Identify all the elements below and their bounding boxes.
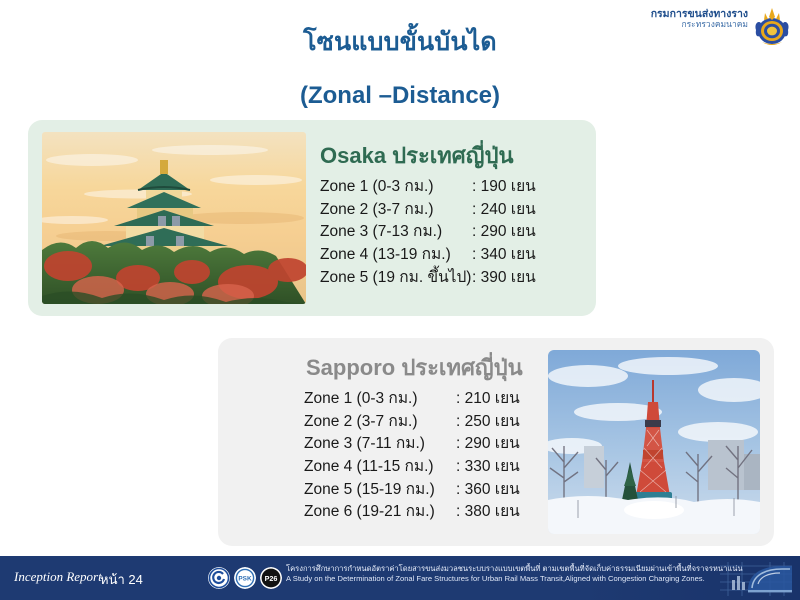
zone-label: Zone 1 (0-3 กม.) bbox=[320, 176, 472, 199]
train-graphic-icon bbox=[718, 560, 794, 598]
zone-fare: : 340 เยน bbox=[472, 244, 536, 267]
psk-logo-icon: PSK bbox=[234, 567, 256, 589]
page-title-thai: โซนแบบขั้นบันได bbox=[0, 22, 800, 62]
footer-project-thai: โครงการศึกษาการกำหนดอัตราค่าโดยสารขนส่งม… bbox=[286, 564, 743, 574]
card-osaka: Osaka ประเทศญี่ปุ่น Zone 1 (0-3 กม.) : 1… bbox=[28, 120, 596, 316]
card-sapporo: Sapporo ประเทศญี่ปุ่น Zone 1 (0-3 กม.) :… bbox=[218, 338, 774, 546]
p26-logo-icon: P26 bbox=[260, 567, 282, 589]
osaka-castle-photo bbox=[42, 132, 306, 304]
zone-label: Zone 5 (19 กม. ขึ้นไป) bbox=[320, 267, 472, 290]
table-row: Zone 5 (15-19 กม.) : 360 เยน bbox=[304, 479, 566, 502]
zone-fare: : 330 เยน bbox=[456, 456, 520, 479]
card-osaka-title: Osaka ประเทศญี่ปุ่น bbox=[320, 138, 514, 173]
table-row: Zone 6 (19-21 กม.) : 380 เยน bbox=[304, 501, 566, 524]
table-row: Zone 2 (3-7 กม.) : 250 เยน bbox=[304, 411, 566, 434]
card-sapporo-title: Sapporo ประเทศญี่ปุ่น bbox=[306, 350, 523, 385]
table-row: Zone 1 (0-3 กม.) : 190 เยน bbox=[320, 176, 582, 199]
card-sapporo-zone-list: Zone 1 (0-3 กม.) : 210 เยน Zone 2 (3-7 ก… bbox=[304, 388, 566, 524]
table-row: Zone 3 (7-13 กม.) : 290 เยน bbox=[320, 221, 582, 244]
zone-label: Zone 3 (7-13 กม.) bbox=[320, 221, 472, 244]
slide-root: กรมการขนส่งทางราง กระทรวงคมนาคม โซนแบบขั… bbox=[0, 0, 800, 600]
card-osaka-zone-list: Zone 1 (0-3 กม.) : 190 เยน Zone 2 (3-7 ก… bbox=[320, 176, 582, 289]
footer-project-text: โครงการศึกษาการกำหนดอัตราค่าโดยสารขนส่งม… bbox=[286, 564, 743, 585]
zone-fare: : 380 เยน bbox=[456, 501, 520, 524]
zone-fare: : 190 เยน bbox=[472, 176, 536, 199]
zone-fare: : 360 เยน bbox=[456, 479, 520, 502]
zone-label: Zone 6 (19-21 กม.) bbox=[304, 501, 456, 524]
p26-logo-text: P26 bbox=[265, 574, 278, 583]
zone-label: Zone 4 (13-19 กม.) bbox=[320, 244, 472, 267]
zone-label: Zone 2 (3-7 กม.) bbox=[320, 199, 472, 222]
sapporo-tv-tower-photo bbox=[548, 350, 760, 534]
zone-label: Zone 5 (15-19 กม.) bbox=[304, 479, 456, 502]
zone-fare: : 290 เยน bbox=[456, 433, 520, 456]
footer-project-english: A Study on the Determination of Zonal Fa… bbox=[286, 574, 743, 584]
table-row: Zone 1 (0-3 กม.) : 210 เยน bbox=[304, 388, 566, 411]
zone-fare: : 290 เยน bbox=[472, 221, 536, 244]
psk-logo-text: PSK bbox=[238, 576, 252, 583]
zone-label: Zone 1 (0-3 กม.) bbox=[304, 388, 456, 411]
table-row: Zone 3 (7-11 กม.) : 290 เยน bbox=[304, 433, 566, 456]
table-row: Zone 4 (11-15 กม.) : 330 เยน bbox=[304, 456, 566, 479]
table-row: Zone 5 (19 กม. ขึ้นไป) : 390 เยน bbox=[320, 267, 582, 290]
footer-report-label: Inception Report bbox=[14, 569, 102, 585]
table-row: Zone 4 (13-19 กม.) : 340 เยน bbox=[320, 244, 582, 267]
footer-logos: PSK P26 bbox=[208, 567, 282, 589]
zone-fare: : 390 เยน bbox=[472, 267, 536, 290]
zone-fare: : 210 เยน bbox=[456, 388, 520, 411]
zone-label: Zone 2 (3-7 กม.) bbox=[304, 411, 456, 434]
zone-fare: : 250 เยน bbox=[456, 411, 520, 434]
zone-label: Zone 4 (11-15 กม.) bbox=[304, 456, 456, 479]
page-title-english: (Zonal –Distance) bbox=[0, 82, 800, 110]
footer-page-label: หน้า 24 bbox=[100, 569, 143, 590]
consultant-spiral-logo-icon bbox=[208, 567, 230, 589]
table-row: Zone 2 (3-7 กม.) : 240 เยน bbox=[320, 199, 582, 222]
footer-bar: Inception Report หน้า 24 PSK P26 โครงการ… bbox=[0, 556, 800, 600]
zone-label: Zone 3 (7-11 กม.) bbox=[304, 433, 456, 456]
zone-fare: : 240 เยน bbox=[472, 199, 536, 222]
